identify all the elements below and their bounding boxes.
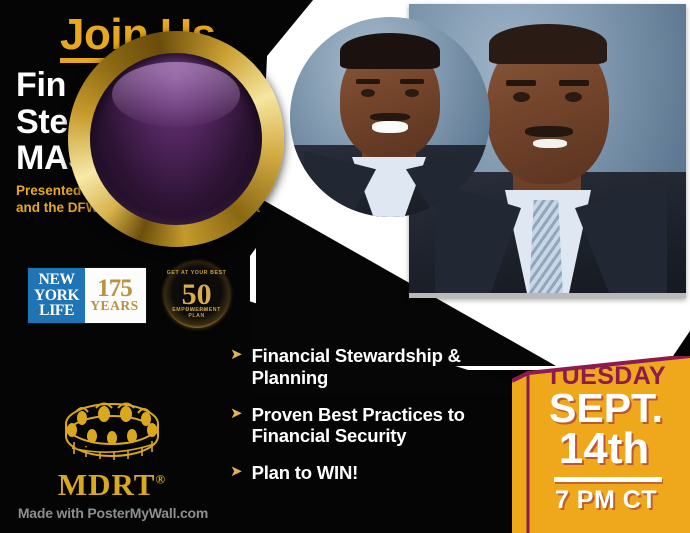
bullet-text: Plan to WIN!	[252, 462, 359, 484]
date-panel-content: TUESDAY SEPT. 14th 7 PM CT	[512, 356, 690, 533]
badge-gloss-highlight	[112, 62, 239, 127]
arrow-bullet-icon: ➤	[230, 346, 243, 365]
bullet-text: Proven Best Practices to Financial Secur…	[252, 404, 515, 448]
nyl-anniversary: 175 YEARS	[85, 268, 145, 323]
nyl-line-3: LIFE	[34, 303, 79, 319]
new-york-life-logo: NEW YORK LIFE 175 YEARS	[28, 268, 146, 323]
mdrt-label: MDRT	[58, 467, 156, 502]
event-day: 14th	[518, 428, 690, 470]
sponsor-logos: NEW YORK LIFE 175 YEARS GET AT YOUR BEST…	[28, 262, 230, 328]
poster-canvas: Join Us Fin Ste MAS Presented by: W Burr…	[0, 0, 690, 533]
date-divider	[554, 477, 662, 482]
badge-inner-circle	[90, 53, 262, 225]
mdrt-logo: MDRT®	[22, 400, 202, 500]
arrow-bullet-icon: ➤	[230, 405, 243, 424]
nyl-line-1: NEW	[34, 272, 79, 288]
arrow-bullet-icon: ➤	[230, 463, 243, 482]
event-time: 7 PM CT	[522, 486, 690, 515]
round-table-crown-icon	[52, 400, 172, 462]
event-month: SEPT.	[522, 389, 690, 428]
seal-number: 50	[182, 280, 212, 310]
date-panel: TUESDAY SEPT. 14th 7 PM CT	[512, 356, 690, 533]
circle-portrait	[290, 17, 490, 217]
seal-top-text: GET AT YOUR BEST	[164, 270, 230, 276]
nyl-years-word: YEARS	[90, 299, 138, 313]
nyl-wordmark: NEW YORK LIFE	[28, 268, 85, 323]
seal-bottom-text: EMPOWERMENT PLAN	[164, 307, 230, 319]
fifty-empowerment-seal-icon: GET AT YOUR BEST 50 R.R.L.'S 50 EMPOWERM…	[164, 262, 230, 328]
mdrt-registered: ®	[155, 472, 166, 487]
bullet-list: ➤ Financial Stewardship & Planning ➤ Pro…	[230, 345, 515, 499]
postermywall-watermark: Made with PosterMyWall.com	[8, 505, 218, 521]
list-item: ➤ Proven Best Practices to Financial Sec…	[230, 404, 515, 448]
list-item: ➤ Plan to WIN!	[230, 462, 515, 484]
nyl-line-2: YORK	[34, 288, 79, 304]
purple-gold-badge-icon[interactable]	[68, 31, 284, 247]
bullet-text: Financial Stewardship & Planning	[252, 345, 515, 389]
nyl-years-number: 175	[97, 278, 132, 299]
mdrt-wordmark: MDRT®	[22, 469, 202, 500]
list-item: ➤ Financial Stewardship & Planning	[230, 345, 515, 389]
